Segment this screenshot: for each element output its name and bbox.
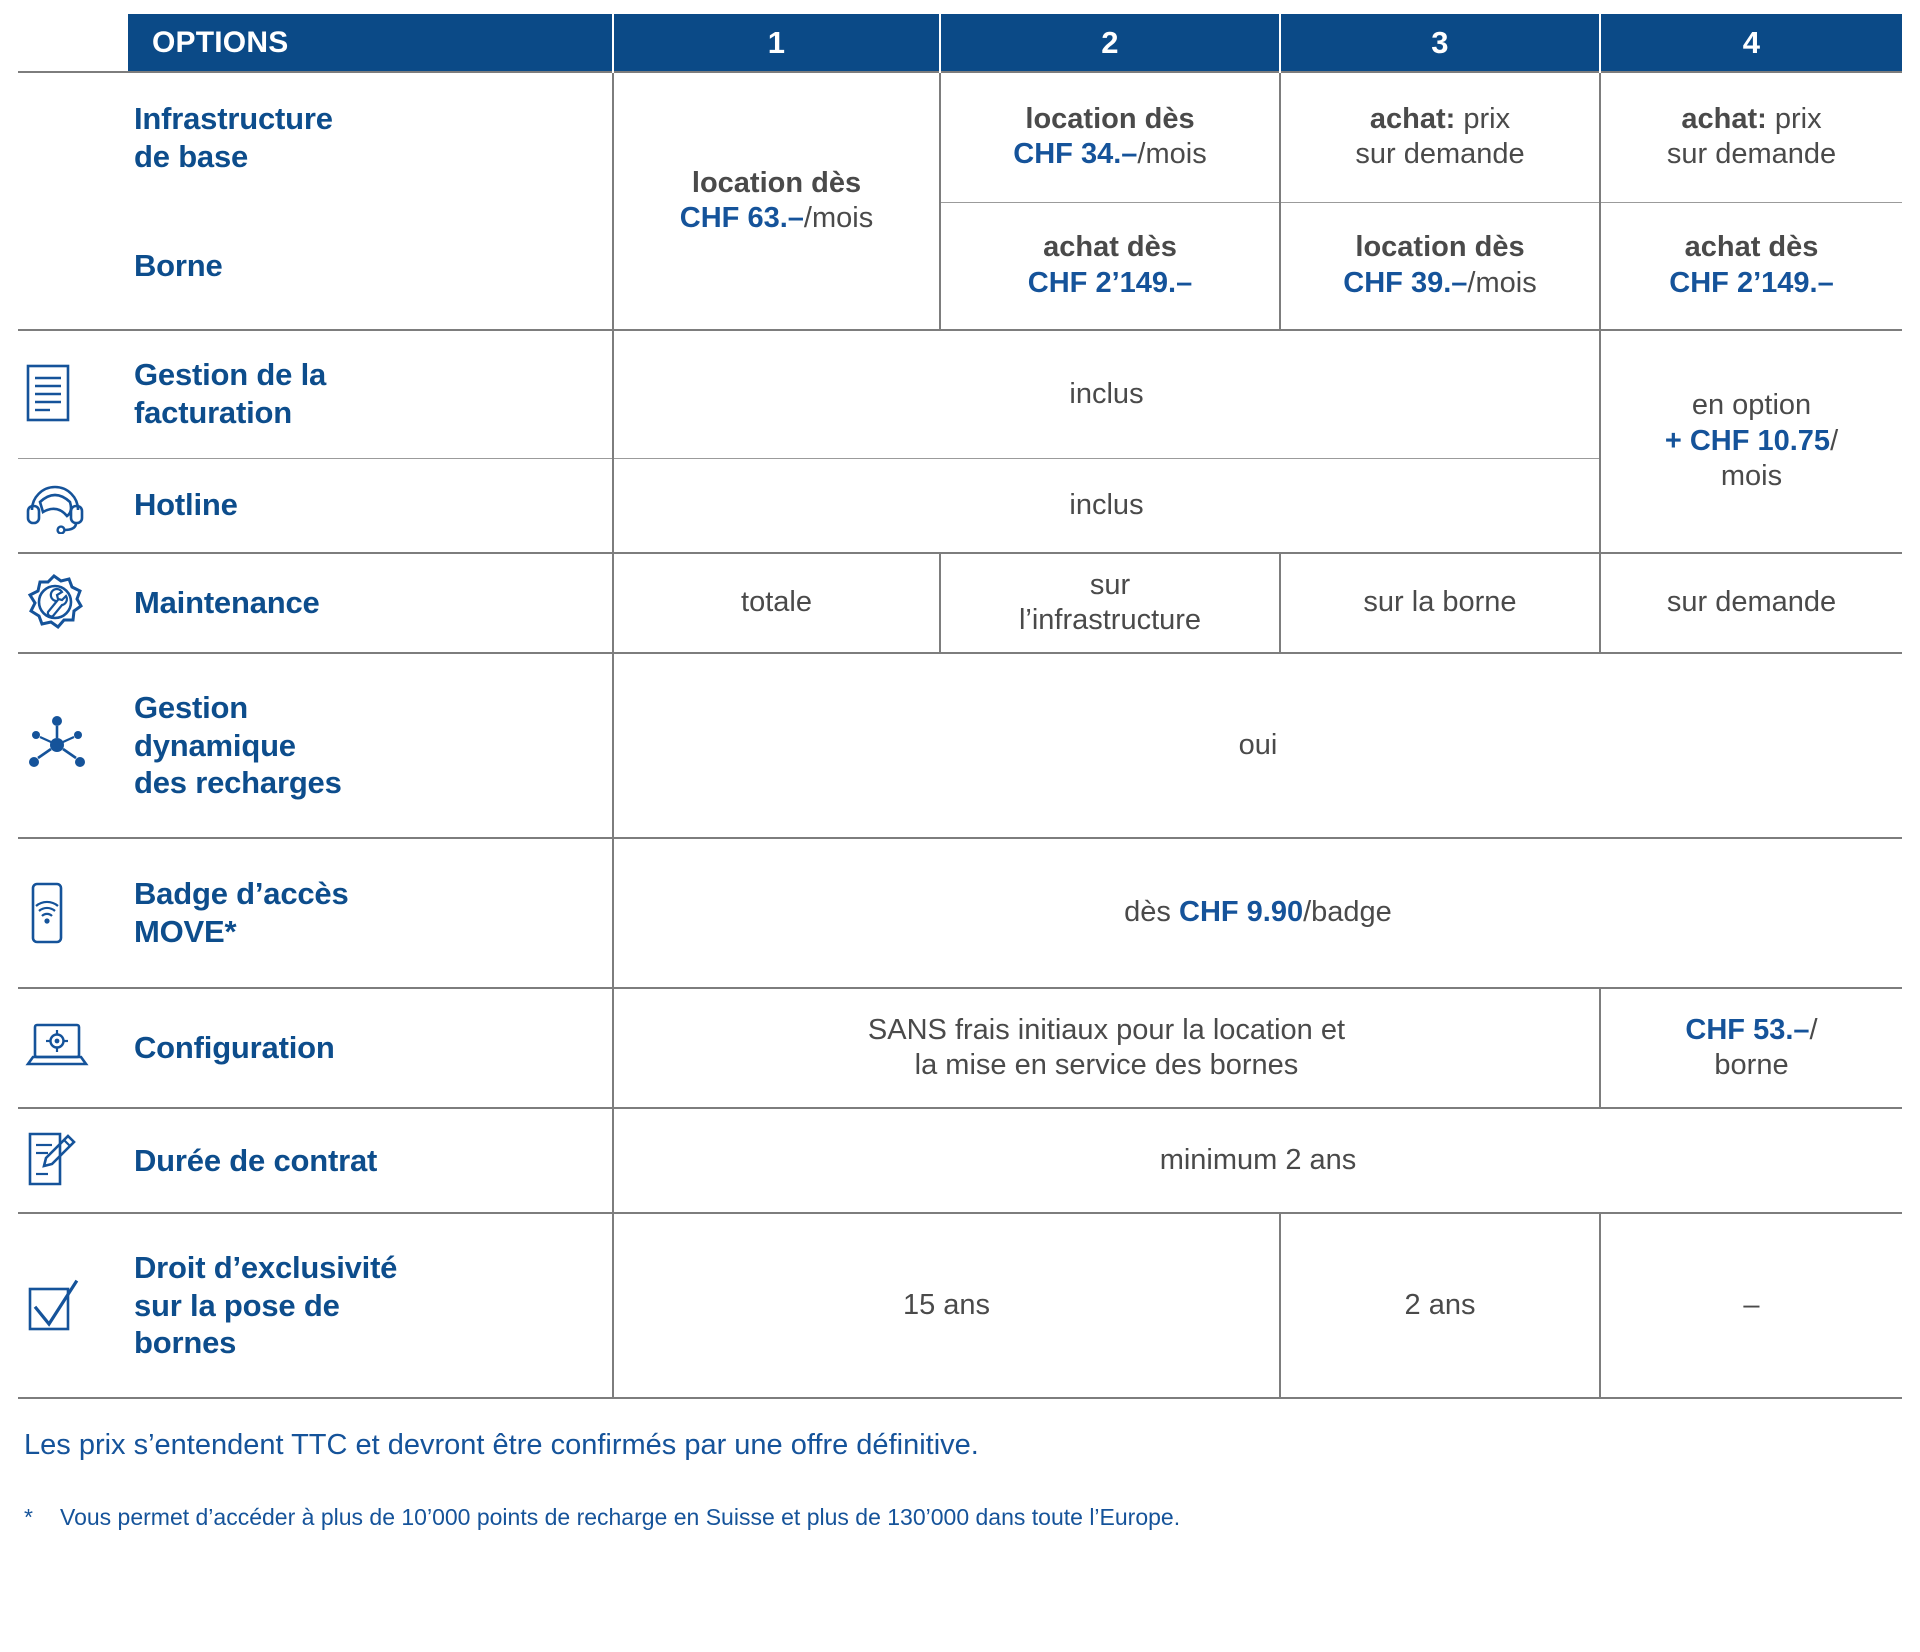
row-label-infrastructure-text: Infrastructure de base	[134, 101, 333, 174]
borne-c4-price: CHF 2’149.–	[1669, 267, 1833, 299]
headset-icon	[24, 476, 128, 534]
row-label-maintenance: Maintenance	[128, 553, 613, 653]
cell-borne-col2: achat dès CHF 2’149.–	[940, 202, 1280, 330]
header-col-2: 2	[940, 14, 1280, 72]
exclusivite-c3: 2 ans	[1405, 1289, 1476, 1321]
row-label-badge: Badge d’accès MOVE*	[128, 838, 613, 988]
cell-c3-bold: achat:	[1370, 103, 1455, 135]
gear-wrench-icon	[24, 573, 128, 633]
cell-c1-suffix: /mois	[804, 202, 873, 234]
configuration-c4-suffix: /	[1810, 1014, 1818, 1046]
facturation-c4-suffix: /	[1830, 425, 1838, 457]
borne-c3-suffix: /mois	[1467, 267, 1536, 299]
icon-cell-duree	[18, 1108, 128, 1213]
cell-borne-col4: achat dès CHF 2’149.–	[1600, 202, 1902, 330]
facturation-c4-price: + CHF 10.75	[1665, 425, 1830, 457]
borne-c4-line1: achat dès	[1685, 231, 1819, 263]
footnote-prices: Les prix s’entendent TTC et devront être…	[22, 1429, 1902, 1462]
row-label-facturation: Gestion de la facturation	[128, 330, 613, 458]
configuration-value: SANS frais initiaux pour la location et …	[868, 1014, 1345, 1081]
table-row-infrastructure: Infrastructure de base location dès CHF …	[18, 72, 1902, 202]
cell-maintenance-col4: sur demande	[1600, 553, 1902, 653]
exclusivite-c4: –	[1743, 1289, 1759, 1321]
cell-c1-line1: location dès	[692, 167, 861, 199]
maintenance-c3: sur la borne	[1363, 586, 1516, 618]
cell-borne-col3: location dès CHF 39.–/mois	[1280, 202, 1600, 330]
footnote-star-marker: *	[24, 1504, 38, 1531]
table-row-duree: Durée de contrat minimum 2 ans	[18, 1108, 1902, 1213]
cell-exclusivite-col4: –	[1600, 1213, 1902, 1398]
cell-c3-rest: prix	[1455, 103, 1510, 135]
row-label-configuration-text: Configuration	[134, 1030, 335, 1065]
maintenance-c1: totale	[741, 586, 812, 618]
badge-prefix: dès	[1124, 896, 1179, 928]
cell-c2-suffix: /mois	[1137, 138, 1206, 170]
table-row-recharges: Gestion dynamique des recharges oui	[18, 653, 1902, 838]
facturation-value: inclus	[1069, 378, 1143, 410]
row-label-infrastructure: Infrastructure de base	[128, 72, 613, 202]
row-label-borne-text: Borne	[134, 248, 223, 283]
network-icon	[24, 713, 128, 779]
row-label-duree-text: Durée de contrat	[134, 1143, 377, 1178]
cell-exclusivite-col12: 15 ans	[613, 1213, 1280, 1398]
header-options: OPTIONS	[128, 14, 613, 72]
table-row-exclusivite: Droit d’exclusivité sur la pose de borne…	[18, 1213, 1902, 1398]
cell-infrastructure-col4: achat: prix sur demande	[1600, 72, 1902, 202]
cell-recharges-span: oui	[613, 653, 1902, 838]
header-col-4: 4	[1600, 14, 1902, 72]
cell-c2-price: CHF 34.–	[1013, 138, 1137, 170]
table-header: OPTIONS 1 2 3 4	[18, 14, 1902, 72]
exclusivite-c12: 15 ans	[903, 1289, 990, 1321]
cell-infrastructure-borne-col1: location dès CHF 63.–/mois	[613, 72, 940, 330]
cell-infrastructure-col3: achat: prix sur demande	[1280, 72, 1600, 202]
icon-cell-recharges	[18, 653, 128, 838]
row-label-exclusivite: Droit d’exclusivité sur la pose de borne…	[128, 1213, 613, 1398]
nfc-card-icon	[24, 880, 128, 946]
cell-configuration-col4: CHF 53.–/ borne	[1600, 988, 1902, 1108]
row-label-badge-text: Badge d’accès MOVE*	[134, 876, 349, 949]
footnote-star: * Vous permet d’accéder à plus de 10’000…	[22, 1504, 1902, 1531]
maintenance-c4: sur demande	[1667, 586, 1836, 618]
cell-hotline-span: inclus	[613, 458, 1600, 553]
cell-badge-span: dès CHF 9.90/badge	[613, 838, 1902, 988]
row-label-duree: Durée de contrat	[128, 1108, 613, 1213]
row-label-exclusivite-text: Droit d’exclusivité sur la pose de borne…	[134, 1250, 397, 1361]
cell-infrastructure-col2: location dès CHF 34.–/mois	[940, 72, 1280, 202]
cell-facturation-col4: en option + CHF 10.75/ mois	[1600, 330, 1902, 553]
row-label-recharges-text: Gestion dynamique des recharges	[134, 690, 342, 801]
header-col-3: 3	[1280, 14, 1600, 72]
cell-maintenance-col2: sur l’infrastructure	[940, 553, 1280, 653]
contract-pen-icon	[24, 1130, 128, 1192]
cell-maintenance-col3: sur la borne	[1280, 553, 1600, 653]
row-label-hotline-text: Hotline	[134, 487, 238, 522]
borne-c3-line1: location dès	[1355, 231, 1524, 263]
cell-duree-span: minimum 2 ans	[613, 1108, 1902, 1213]
cell-exclusivite-col3: 2 ans	[1280, 1213, 1600, 1398]
document-icon	[24, 363, 128, 425]
header-corner-spacer	[18, 14, 128, 72]
facturation-c4-line3: mois	[1721, 460, 1782, 492]
comparison-sheet: OPTIONS 1 2 3 4 Infrastructure de base l…	[0, 0, 1920, 1652]
table-row-configuration: Configuration SANS frais initiaux pour l…	[18, 988, 1902, 1108]
icon-cell-hotline	[18, 458, 128, 553]
cell-c4-bold: achat:	[1681, 103, 1766, 135]
borne-c2-price: CHF 2’149.–	[1028, 267, 1192, 299]
checkbox-check-icon	[24, 1275, 128, 1337]
hotline-value: inclus	[1069, 489, 1143, 521]
cell-c1-price: CHF 63.–	[680, 202, 804, 234]
configuration-c4-line2: borne	[1714, 1049, 1788, 1081]
row-label-facturation-text: Gestion de la facturation	[134, 357, 326, 430]
borne-c3-price: CHF 39.–	[1343, 267, 1467, 299]
row-label-recharges: Gestion dynamique des recharges	[128, 653, 613, 838]
badge-price: CHF 9.90	[1179, 896, 1303, 928]
icon-cell-configuration	[18, 988, 128, 1108]
cell-c3-line2: sur demande	[1355, 138, 1524, 170]
cell-c4-line2: sur demande	[1667, 138, 1836, 170]
borne-c2-line1: achat dès	[1043, 231, 1177, 263]
row-icon-spacer	[18, 72, 128, 202]
row-icon-spacer-borne	[18, 202, 128, 330]
options-comparison-table: OPTIONS 1 2 3 4 Infrastructure de base l…	[18, 14, 1902, 1399]
row-label-hotline: Hotline	[128, 458, 613, 553]
cell-configuration-span: SANS frais initiaux pour la location et …	[613, 988, 1600, 1108]
badge-suffix: /badge	[1303, 896, 1392, 928]
table-row-maintenance: Maintenance totale sur l’infrastructure …	[18, 553, 1902, 653]
row-label-maintenance-text: Maintenance	[134, 585, 320, 620]
row-label-configuration: Configuration	[128, 988, 613, 1108]
cell-maintenance-col1: totale	[613, 553, 940, 653]
table-row-badge: Badge d’accès MOVE* dès CHF 9.90/badge	[18, 838, 1902, 988]
configuration-c4-price: CHF 53.–	[1685, 1014, 1809, 1046]
icon-cell-badge	[18, 838, 128, 988]
laptop-gear-icon	[24, 1020, 128, 1076]
recharges-value: oui	[1239, 729, 1278, 761]
cell-c2-line1: location dès	[1025, 103, 1194, 135]
footnote-star-text: Vous permet d’accéder à plus de 10’000 p…	[60, 1504, 1180, 1531]
table-row-facturation: Gestion de la facturation inclus en opti…	[18, 330, 1902, 458]
header-col-1: 1	[613, 14, 940, 72]
cell-c4-rest: prix	[1767, 103, 1822, 135]
maintenance-c2: sur l’infrastructure	[1019, 569, 1201, 636]
table-row-borne: Borne achat dès CHF 2’149.– location dès…	[18, 202, 1902, 330]
row-label-borne: Borne	[128, 202, 613, 330]
duree-value: minimum 2 ans	[1160, 1144, 1357, 1176]
cell-facturation-span: inclus	[613, 330, 1600, 458]
facturation-c4-line1: en option	[1692, 389, 1811, 421]
icon-cell-exclusivite	[18, 1213, 128, 1398]
icon-cell-maintenance	[18, 553, 128, 653]
icon-cell-facturation	[18, 330, 128, 458]
